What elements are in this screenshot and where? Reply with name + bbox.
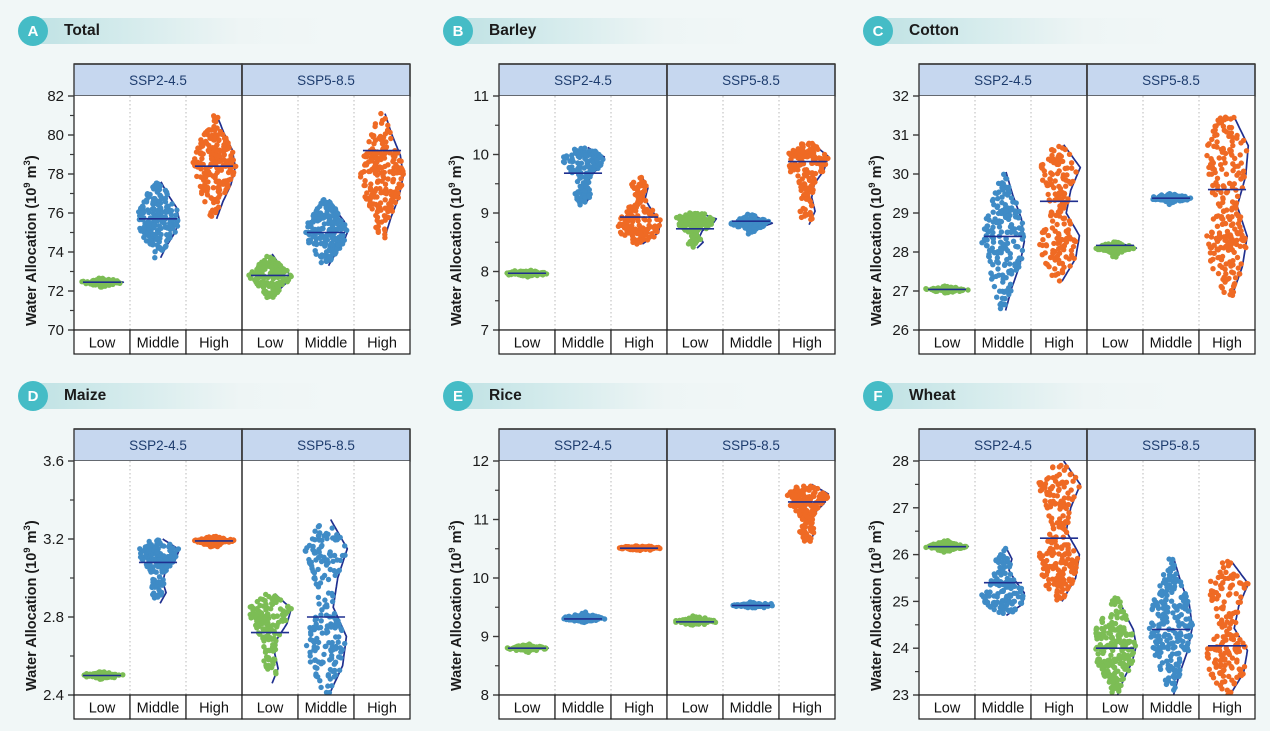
- data-point: [1206, 141, 1211, 146]
- data-point: [1218, 162, 1223, 167]
- data-point: [630, 184, 635, 189]
- data-point: [260, 597, 265, 602]
- panel-title: Total: [64, 22, 100, 40]
- data-point: [810, 190, 815, 195]
- data-point: [333, 660, 338, 665]
- data-point: [164, 210, 169, 215]
- data-point: [330, 599, 335, 604]
- data-point: [1004, 208, 1009, 213]
- y-tick-label: 29: [892, 205, 909, 222]
- data-point: [161, 543, 166, 548]
- data-point: [307, 543, 312, 548]
- data-point: [152, 255, 157, 260]
- data-point: [811, 491, 816, 496]
- category-label: Low: [934, 336, 961, 352]
- data-point: [144, 564, 149, 569]
- data-point: [795, 173, 800, 178]
- data-point: [987, 254, 992, 259]
- data-point: [1224, 190, 1229, 195]
- data-point: [1004, 176, 1009, 181]
- category-label: Low: [682, 701, 709, 717]
- data-point: [633, 202, 638, 207]
- data-point: [221, 148, 226, 153]
- data-point: [1230, 168, 1235, 173]
- data-point: [155, 549, 160, 554]
- data-point: [1230, 258, 1235, 263]
- data-point: [1050, 251, 1055, 256]
- data-point: [1211, 216, 1216, 221]
- data-point: [310, 569, 315, 574]
- data-point: [1234, 238, 1239, 243]
- data-point: [1230, 161, 1235, 166]
- data-point: [1009, 271, 1014, 276]
- data-point: [370, 206, 375, 211]
- data-point: [312, 658, 317, 663]
- data-point: [340, 233, 345, 238]
- data-point: [308, 630, 313, 635]
- data-point: [1237, 271, 1242, 276]
- data-point: [1238, 228, 1243, 233]
- data-point: [376, 136, 381, 141]
- data-point: [814, 506, 819, 511]
- data-point: [157, 223, 162, 228]
- data-point: [338, 535, 343, 540]
- data-point: [998, 306, 1003, 311]
- data-point: [202, 170, 207, 175]
- data-point: [575, 160, 580, 165]
- data-point: [1066, 510, 1071, 515]
- data-point: [1209, 162, 1214, 167]
- data-point: [1010, 581, 1015, 586]
- data-point: [1215, 183, 1220, 188]
- data-point: [284, 268, 289, 273]
- data-point: [387, 169, 392, 174]
- data-point: [1061, 265, 1066, 270]
- data-point: [216, 137, 221, 142]
- data-point: [1218, 190, 1223, 195]
- data-point: [1210, 257, 1215, 262]
- data-point: [280, 282, 285, 287]
- category-label: Middle: [305, 336, 348, 352]
- data-point: [1239, 261, 1244, 266]
- data-point: [148, 241, 153, 246]
- facet-strip-label: SSP5-8.5: [722, 73, 780, 88]
- data-point: [987, 248, 992, 253]
- data-point: [1042, 172, 1047, 177]
- data-point: [1229, 148, 1234, 153]
- data-point: [799, 530, 804, 535]
- data-point: [378, 111, 383, 116]
- data-point: [312, 529, 317, 534]
- data-point: [1116, 240, 1121, 245]
- data-point: [264, 664, 269, 669]
- data-point: [674, 215, 679, 220]
- data-point: [312, 575, 317, 580]
- category-label: High: [792, 701, 822, 717]
- data-point: [996, 273, 1001, 278]
- data-point: [819, 169, 824, 174]
- data-point: [992, 571, 997, 576]
- panel-title: Cotton: [909, 22, 959, 40]
- data-point: [1229, 125, 1234, 130]
- data-point: [336, 634, 341, 639]
- data-point: [811, 150, 816, 155]
- data-point: [988, 604, 993, 609]
- panel-letter-badge: D: [18, 381, 48, 411]
- data-point: [336, 226, 341, 231]
- data-point: [267, 636, 272, 641]
- data-point: [381, 175, 386, 180]
- data-point: [1212, 124, 1217, 129]
- panel-a: ATotalWater Allocation (109 m3)SSP2-4.5S…: [0, 0, 425, 365]
- facet-strip-label: SSP2-4.5: [554, 73, 612, 88]
- y-tick-label: 27: [892, 500, 909, 517]
- data-point: [263, 592, 268, 597]
- data-point: [261, 658, 266, 663]
- data-point: [799, 215, 804, 220]
- data-point: [1056, 258, 1061, 263]
- data-point: [98, 676, 103, 681]
- data-point: [943, 548, 948, 553]
- data-point: [164, 565, 169, 570]
- data-point: [389, 190, 394, 195]
- data-point: [361, 153, 366, 158]
- data-point: [642, 208, 647, 213]
- data-point: [997, 224, 1002, 229]
- y-tick-label: 3.6: [43, 453, 64, 470]
- data-point: [324, 690, 329, 695]
- data-point: [326, 673, 331, 678]
- data-point: [804, 167, 809, 172]
- category-label: High: [199, 701, 229, 717]
- category-label: High: [199, 336, 229, 352]
- data-point: [1006, 285, 1011, 290]
- data-point: [1208, 245, 1213, 250]
- data-point: [1239, 160, 1244, 165]
- data-point: [1006, 185, 1011, 190]
- data-point: [820, 493, 825, 498]
- data-point: [1048, 170, 1053, 175]
- data-point: [313, 665, 318, 670]
- data-point: [593, 614, 598, 619]
- data-point: [270, 281, 275, 286]
- data-point: [1046, 233, 1051, 238]
- data-point: [337, 568, 342, 573]
- y-tick-label: 9: [481, 629, 489, 646]
- data-point: [263, 602, 268, 607]
- data-point: [210, 196, 215, 201]
- data-point: [335, 242, 340, 247]
- data-point: [263, 607, 268, 612]
- data-point: [321, 652, 326, 657]
- data-point: [573, 149, 578, 154]
- data-point: [169, 212, 174, 217]
- y-tick-label: 74: [47, 244, 64, 261]
- data-point: [795, 155, 800, 160]
- data-point: [330, 242, 335, 247]
- data-point: [1061, 205, 1066, 210]
- data-point: [985, 223, 990, 228]
- y-tick-label: 28: [892, 453, 909, 470]
- data-point: [366, 139, 371, 144]
- data-point: [982, 237, 987, 242]
- data-point: [254, 618, 259, 623]
- data-point: [1073, 169, 1078, 174]
- data-point: [1001, 589, 1006, 594]
- data-point: [271, 656, 276, 661]
- data-point: [267, 623, 272, 628]
- data-point: [998, 209, 1003, 214]
- data-point: [380, 118, 385, 123]
- data-point: [798, 209, 803, 214]
- data-point: [382, 213, 387, 218]
- data-point: [325, 557, 330, 562]
- data-point: [647, 218, 652, 223]
- category-label: Low: [89, 701, 116, 717]
- data-point: [385, 123, 390, 128]
- data-point: [273, 669, 278, 674]
- data-point: [391, 177, 396, 182]
- data-point: [804, 212, 809, 217]
- data-point: [393, 200, 398, 205]
- data-point: [575, 617, 580, 622]
- y-tick-label: 7: [481, 322, 489, 339]
- facet-strip-label: SSP5-8.5: [1142, 73, 1200, 88]
- data-point: [146, 559, 151, 564]
- data-point: [1048, 181, 1053, 186]
- data-point: [326, 577, 331, 582]
- data-point: [375, 209, 380, 214]
- data-point: [248, 276, 253, 281]
- data-point: [584, 158, 589, 163]
- data-point: [1012, 599, 1017, 604]
- data-point: [314, 636, 319, 641]
- data-point: [316, 595, 321, 600]
- data-point: [991, 210, 996, 215]
- data-point: [1221, 156, 1226, 161]
- data-point: [810, 511, 815, 516]
- data-point: [378, 200, 383, 205]
- data-point: [140, 557, 145, 562]
- data-point: [174, 207, 179, 212]
- data-point: [1008, 586, 1013, 591]
- data-point: [807, 178, 812, 183]
- data-point: [1221, 290, 1226, 295]
- data-point: [1228, 116, 1233, 121]
- data-point: [1229, 207, 1234, 212]
- panel-d: DMaizeWater Allocation (109 m3)SSP2-4.5S…: [0, 365, 425, 731]
- data-point: [1057, 240, 1062, 245]
- data-point: [1221, 209, 1226, 214]
- data-point: [159, 196, 164, 201]
- data-point: [1209, 234, 1214, 239]
- data-point: [689, 616, 694, 621]
- data-point: [637, 196, 642, 201]
- data-point: [1215, 224, 1220, 229]
- category-label: Middle: [730, 336, 773, 352]
- y-tick-label: 2.4: [43, 687, 64, 704]
- data-point: [313, 248, 318, 253]
- data-point: [155, 208, 160, 213]
- data-point: [1230, 139, 1235, 144]
- data-point: [998, 301, 1003, 306]
- data-point: [373, 202, 378, 207]
- data-point: [1215, 238, 1220, 243]
- data-point: [370, 134, 375, 139]
- data-point: [161, 553, 166, 558]
- category-label: Middle: [137, 701, 180, 717]
- data-point: [808, 484, 813, 489]
- data-point: [1224, 261, 1229, 266]
- data-point: [1223, 271, 1228, 276]
- data-point: [622, 225, 627, 230]
- data-point: [369, 157, 374, 162]
- y-tick-label: 26: [892, 547, 909, 564]
- data-point: [1222, 128, 1227, 133]
- data-point: [598, 154, 603, 159]
- data-point: [271, 256, 276, 261]
- data-point: [1229, 214, 1234, 219]
- data-point: [173, 213, 178, 218]
- data-point: [213, 173, 218, 178]
- data-point: [1002, 261, 1007, 266]
- y-tick-label: 12: [472, 453, 489, 470]
- data-point: [988, 270, 993, 275]
- data-point: [1113, 254, 1118, 259]
- data-point: [1228, 232, 1233, 237]
- data-point: [1062, 191, 1067, 196]
- data-point: [158, 580, 163, 585]
- data-point: [586, 180, 591, 185]
- data-point: [173, 222, 178, 227]
- data-point: [997, 289, 1002, 294]
- y-tick-label: 24: [892, 640, 909, 657]
- data-point: [332, 237, 337, 242]
- data-point: [1051, 148, 1056, 153]
- data-point: [582, 145, 587, 150]
- panel-letter-badge: C: [863, 16, 893, 46]
- y-tick-label: 8: [481, 264, 489, 281]
- category-label: Middle: [562, 336, 605, 352]
- data-point: [1238, 140, 1243, 145]
- data-point: [1209, 230, 1214, 235]
- data-point: [319, 559, 324, 564]
- data-point: [1221, 234, 1226, 239]
- data-point: [1057, 152, 1062, 157]
- data-point: [148, 569, 153, 574]
- data-point: [998, 572, 1003, 577]
- data-point: [1045, 262, 1050, 267]
- data-point: [1005, 607, 1010, 612]
- data-point: [205, 192, 210, 197]
- data-point: [1008, 224, 1013, 229]
- data-point: [146, 543, 151, 548]
- data-point: [286, 277, 291, 282]
- data-point: [1001, 562, 1006, 567]
- data-point: [569, 156, 574, 161]
- data-point: [1000, 279, 1005, 284]
- data-point: [340, 238, 345, 243]
- data-point: [698, 213, 703, 218]
- data-point: [381, 152, 386, 157]
- data-point: [1213, 132, 1218, 137]
- data-point: [1015, 244, 1020, 249]
- data-point: [1065, 236, 1070, 241]
- data-point: [585, 185, 590, 190]
- data-point: [303, 549, 308, 554]
- data-point: [317, 549, 322, 554]
- data-point: [377, 164, 382, 169]
- data-point: [328, 647, 333, 652]
- data-point: [337, 668, 342, 673]
- data-point: [330, 640, 335, 645]
- plot-b: SSP2-4.5SSP5-8.57891011LowMiddleHighLowM…: [425, 0, 850, 365]
- data-point: [689, 211, 694, 216]
- data-point: [592, 149, 597, 154]
- data-point: [319, 543, 324, 548]
- data-point: [1005, 230, 1010, 235]
- data-point: [803, 509, 808, 514]
- data-point: [366, 169, 371, 174]
- panel-letter-badge: E: [443, 381, 473, 411]
- y-tick-label: 31: [892, 127, 909, 144]
- data-point: [375, 172, 380, 177]
- y-tick-label: 23: [892, 687, 909, 704]
- data-point: [256, 267, 261, 272]
- category-label: Low: [682, 336, 709, 352]
- data-point: [137, 546, 142, 551]
- data-point: [807, 495, 812, 500]
- data-point: [327, 218, 332, 223]
- data-point: [339, 628, 344, 633]
- data-point: [706, 220, 711, 225]
- data-point: [994, 250, 999, 255]
- data-point: [1204, 153, 1209, 158]
- data-point: [1223, 115, 1228, 120]
- data-point: [799, 188, 804, 193]
- category-label: High: [624, 336, 654, 352]
- data-point: [575, 179, 580, 184]
- data-point: [984, 243, 989, 248]
- data-point: [336, 654, 341, 659]
- plot-a: SSP2-4.5SSP5-8.570727476788082LowMiddleH…: [0, 0, 425, 365]
- data-point: [981, 594, 986, 599]
- data-point: [1056, 233, 1061, 238]
- data-point: [995, 594, 1000, 599]
- data-point: [140, 217, 145, 222]
- data-point: [694, 232, 699, 237]
- data-point: [1215, 255, 1220, 260]
- data-point: [1000, 241, 1005, 246]
- data-point: [991, 240, 996, 245]
- data-point: [1011, 239, 1016, 244]
- data-point: [998, 553, 1003, 558]
- data-point: [996, 189, 1001, 194]
- data-point: [808, 522, 813, 527]
- data-point: [1223, 277, 1228, 282]
- data-point: [1243, 245, 1248, 250]
- data-point: [312, 644, 317, 649]
- data-point: [308, 653, 313, 658]
- data-point: [579, 198, 584, 203]
- data-point: [382, 164, 387, 169]
- data-point: [1054, 222, 1059, 227]
- data-point: [1220, 146, 1225, 151]
- data-point: [1050, 218, 1055, 223]
- data-point: [1053, 272, 1058, 277]
- data-point: [207, 212, 212, 217]
- data-point: [151, 556, 156, 561]
